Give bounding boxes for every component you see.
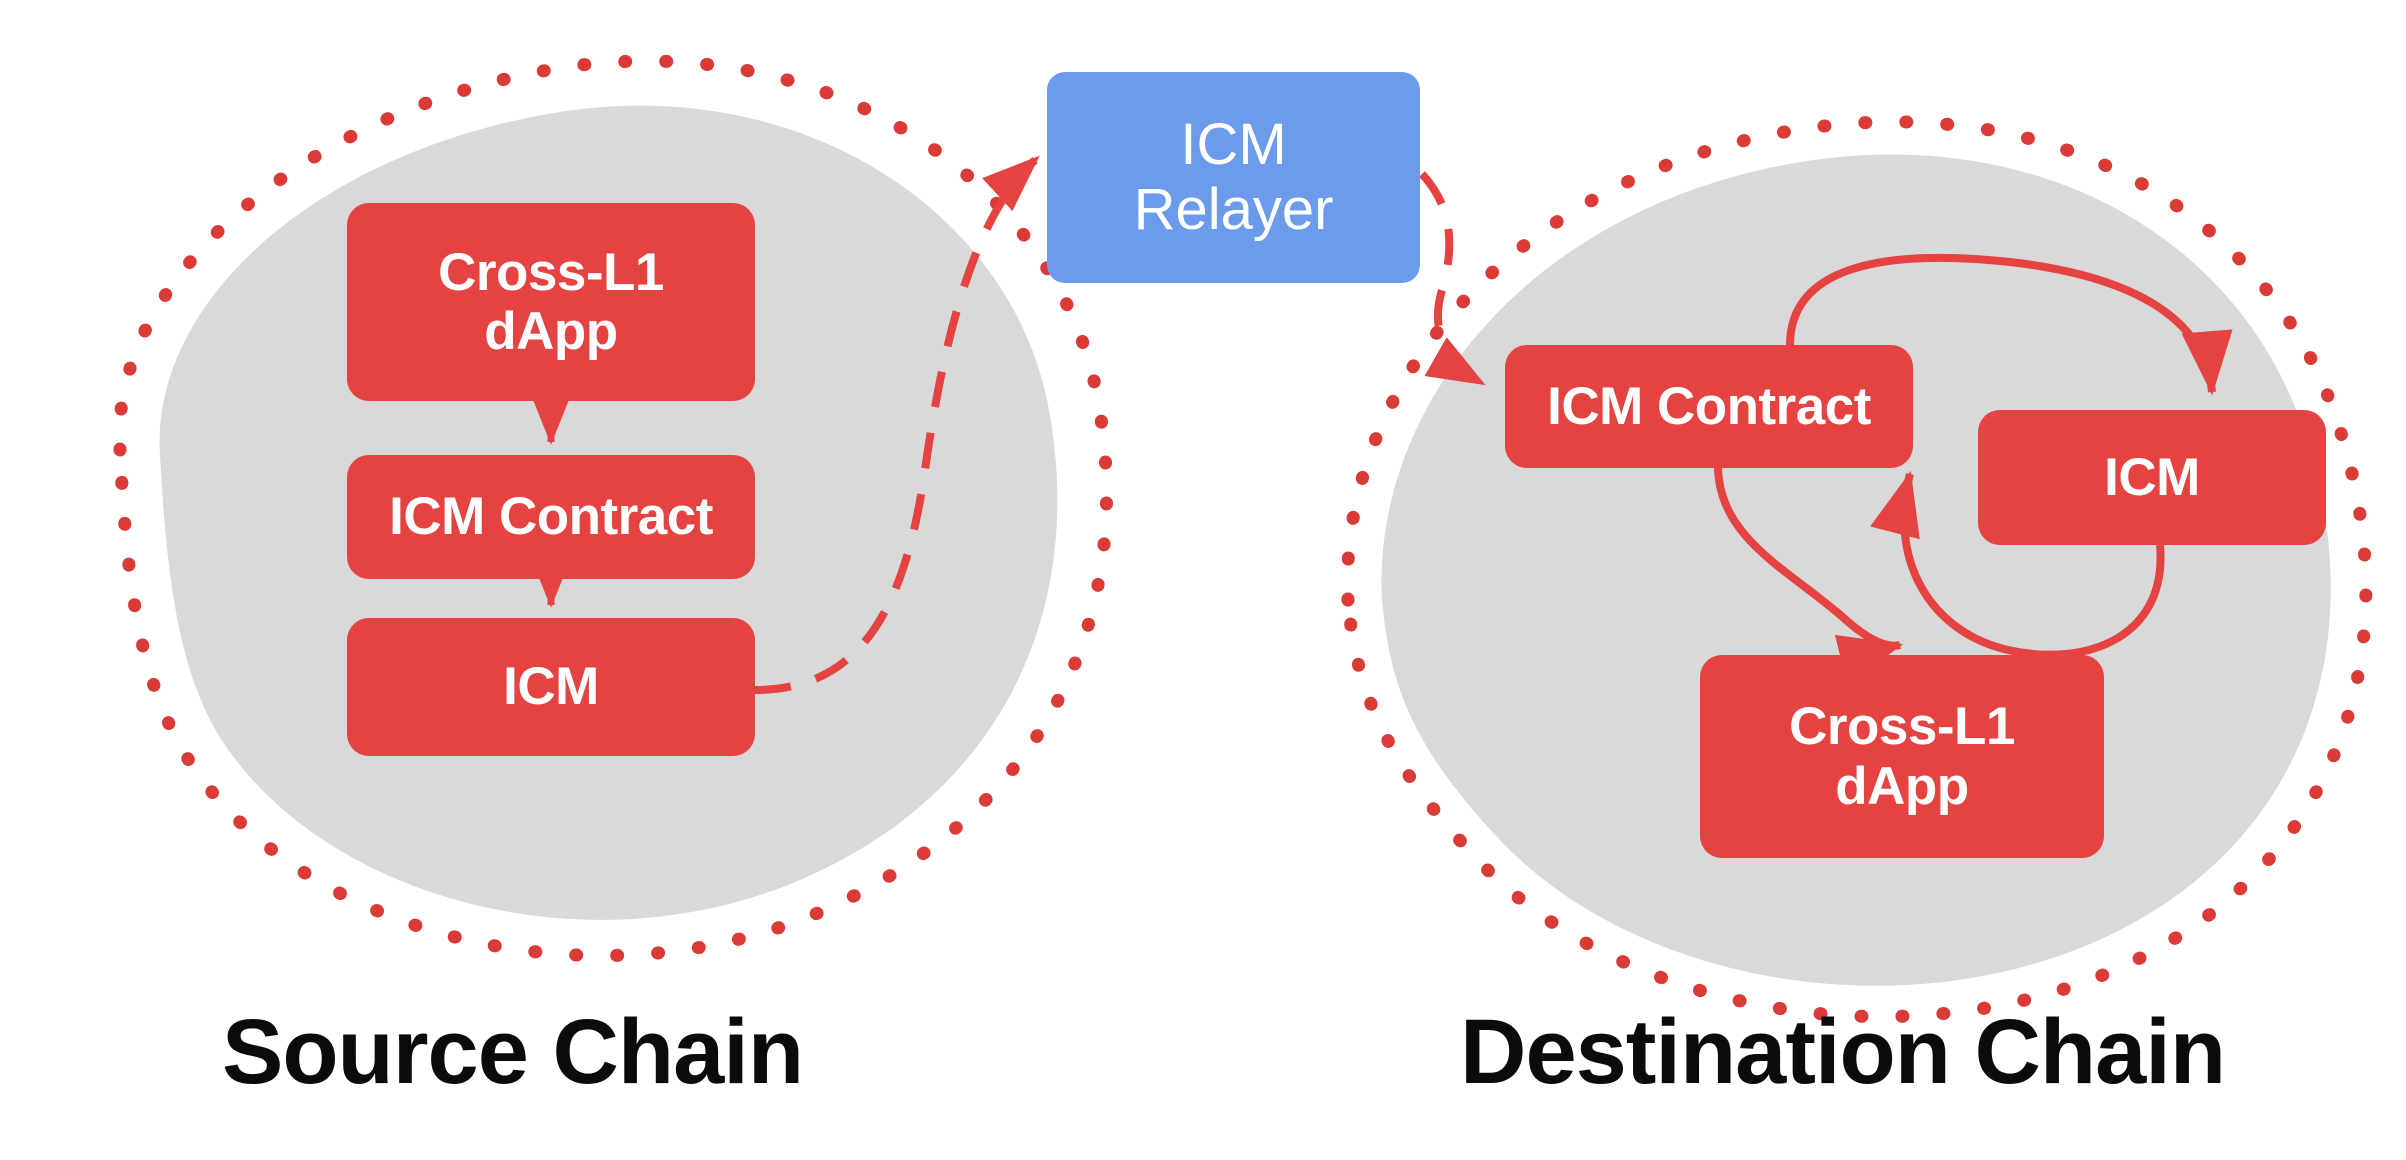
node-source-icm-contract[interactable]: ICM Contract [347, 455, 755, 579]
node-icm-relayer[interactable]: ICM Relayer [1047, 72, 1420, 283]
node-destination-cross-l1-dapp[interactable]: Cross-L1 dApp [1700, 655, 2104, 858]
node-source-icm[interactable]: ICM [347, 618, 755, 756]
destination-chain-label: Destination Chain [1460, 1000, 2225, 1105]
source-chain-label: Source Chain [222, 1000, 803, 1105]
node-source-cross-l1-dapp[interactable]: Cross-L1 dApp [347, 203, 755, 401]
destination-chain-blob [1381, 155, 2330, 986]
node-destination-icm[interactable]: ICM [1978, 410, 2326, 545]
node-destination-icm-contract[interactable]: ICM Contract [1505, 345, 1913, 468]
diagram-canvas: Cross-L1 dApp ICM Contract ICM ICM Relay… [0, 0, 2406, 1160]
